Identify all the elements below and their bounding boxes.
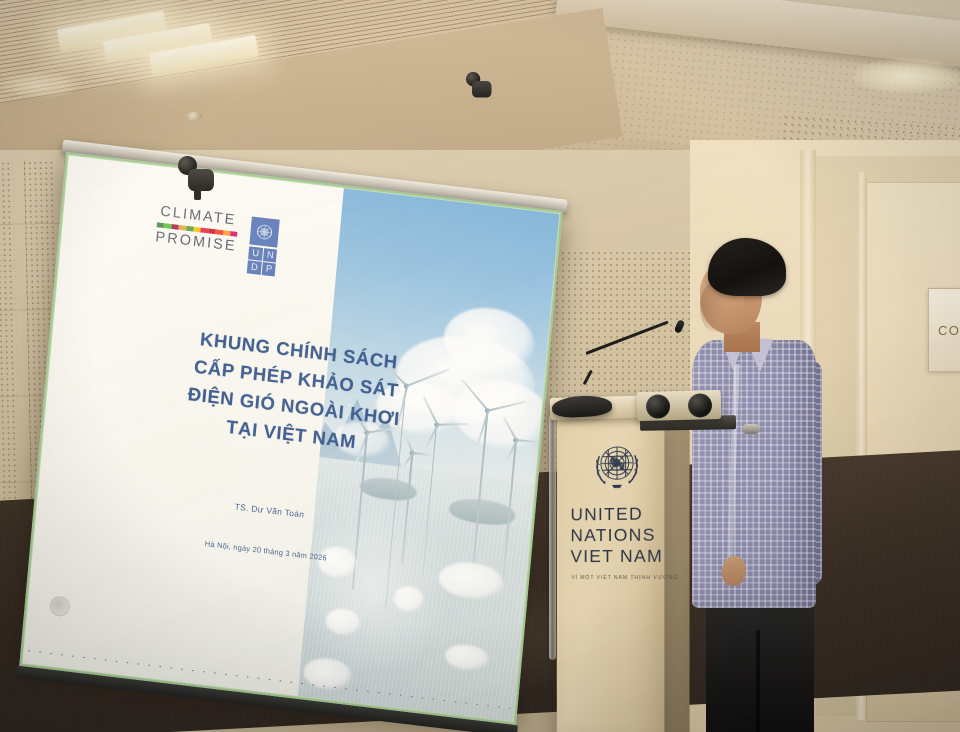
podium-subtitle: VÌ MỘT VIỆT NAM THỊNH VƯỢNG [571,575,667,581]
undp-cell: D [247,261,261,276]
presenter-trousers [706,598,814,732]
camera-lens-icon [688,393,713,418]
screen-surface: CLIMATE PROMISE [19,152,562,725]
podium-rail-vertical [549,414,556,660]
podium: UNITED NATIONS VIET NAM VÌ MỘT VIỆT NAM … [556,412,696,732]
conference-room-photo: CONF [0,0,960,732]
undp-cell: P [262,262,276,277]
undp-logo: U N D P [247,217,280,277]
podium-organisation-text: UNITED NATIONS VIET NAM [570,503,666,567]
presenter-leg-separation [756,630,760,732]
presenter-hair [708,238,786,296]
spotlight-arm [194,187,201,200]
presenter [686,238,826,732]
turbine-blade [517,439,543,443]
climate-promise-logo: CLIMATE PROMISE [155,205,240,256]
dual-lens-camera[interactable] [637,390,722,421]
podium-line: VIET NAM [570,546,666,567]
undp-cell: U [248,246,262,261]
camera-lens-icon [646,394,671,419]
projection-screen: CLIMATE PROMISE [18,152,563,732]
undp-letter-grid: U N D P [247,246,277,277]
ceiling-light-glow [0,72,80,98]
presenter-shirt-pattern [692,340,816,608]
spotlight-body [188,169,214,191]
ceiling-light-glow [852,58,960,94]
podium-front-panel: UNITED NATIONS VIET NAM VÌ MỘT VIỆT NAM … [557,410,665,732]
ceiling-smoke-detector [186,112,202,121]
podium-line: NATIONS [570,524,666,546]
presentation-slide: CLIMATE PROMISE [22,155,559,721]
podium-side-panel [662,412,689,732]
podium-rail-knob [742,424,760,434]
door-sign[interactable]: CONF [928,288,960,372]
sdg-color-swatch [230,231,238,237]
door-sign-label: CONF [938,323,960,338]
undp-cell: N [263,248,277,263]
podium-line: UNITED [570,503,666,525]
un-emblem-icon [250,217,280,248]
un-emblem-icon [586,435,648,499]
spotlight-body [472,81,492,98]
turbine-mast [401,453,413,565]
